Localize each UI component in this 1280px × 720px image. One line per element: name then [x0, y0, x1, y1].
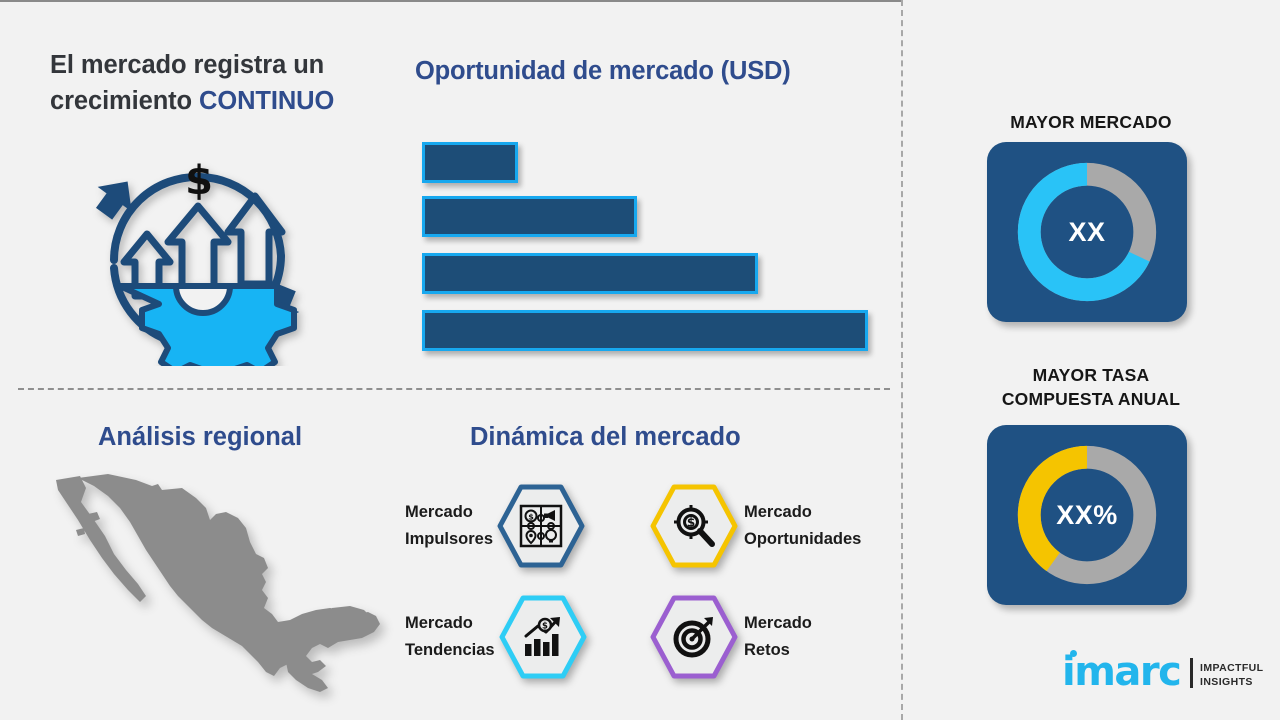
- top-rule: [0, 0, 901, 2]
- hexagon-trends[interactable]: $: [499, 595, 587, 679]
- dynamics-label-line2: Oportunidades: [744, 530, 861, 548]
- highest-cagr-value: XX%: [987, 500, 1187, 531]
- logo-tagline-line1: IMPACTFUL: [1200, 662, 1263, 674]
- opportunity-title: Oportunidad de mercado (USD): [415, 57, 895, 86]
- growth-gear-arrows-icon: $: [72, 138, 322, 366]
- growth-title: El mercado registra un crecimiento CONTI…: [50, 47, 410, 119]
- logo-wordmark: imarc: [1062, 652, 1180, 692]
- bar-row: [422, 310, 868, 351]
- highest-cagr-heading-line1: MAYOR TASA: [1033, 365, 1150, 385]
- dynamics-label-drivers: Mercado Impulsores: [405, 499, 493, 552]
- growth-title-line2-plain: crecimiento: [50, 87, 199, 115]
- hexagon-drivers[interactable]: $: [497, 484, 585, 568]
- mexico-map: [50, 462, 400, 702]
- bar-row: [422, 253, 758, 294]
- target-arrow-icon: [671, 614, 717, 660]
- dynamics-item-drivers[interactable]: Mercado Impulsores $: [405, 484, 585, 568]
- bar-row: [422, 142, 518, 183]
- largest-market-heading: MAYOR MERCADO: [941, 111, 1241, 135]
- dynamics-label-line2: Tendencias: [405, 641, 495, 659]
- logo-tagline-line2: INSIGHTS: [1200, 676, 1253, 688]
- puzzle-pieces-icon: $: [518, 503, 564, 549]
- bar-2: [422, 196, 637, 237]
- bar-1: [422, 142, 518, 183]
- highest-cagr-heading: MAYOR TASA COMPUESTA ANUAL: [941, 364, 1241, 411]
- market-dynamics-group: Mercado Impulsores $: [395, 478, 895, 693]
- dynamics-item-trends[interactable]: Mercado Tendencias $: [405, 595, 587, 679]
- dynamics-item-challenges[interactable]: Mercado Retos: [650, 595, 812, 679]
- dynamics-label-opportunities: Mercado Oportunidades: [744, 499, 861, 552]
- bar-3: [422, 253, 758, 294]
- highest-cagr-card: XX%: [987, 425, 1187, 605]
- largest-market-card: XX: [987, 142, 1187, 322]
- dynamics-title: Dinámica del mercado: [470, 423, 870, 452]
- regional-title: Análisis regional: [98, 423, 428, 452]
- dynamics-label-line1: Mercado: [744, 503, 812, 521]
- svg-text:$: $: [542, 622, 548, 632]
- hexagon-challenges[interactable]: [650, 595, 738, 679]
- dynamics-label-line2: Impulsores: [405, 530, 493, 548]
- hexagon-opportunities[interactable]: $: [650, 484, 738, 568]
- highest-cagr-heading-line2: COMPUESTA ANUAL: [1002, 389, 1180, 409]
- dynamics-label-trends: Mercado Tendencias: [405, 610, 495, 663]
- bar-chart-growth-icon: $: [520, 614, 566, 660]
- growth-dollar-glyph: $: [185, 158, 213, 204]
- horizontal-dashed-divider: [18, 388, 890, 390]
- dynamics-label-line2: Retos: [744, 641, 790, 659]
- svg-text:$: $: [528, 513, 534, 522]
- dynamics-label-line1: Mercado: [405, 614, 473, 632]
- vertical-dashed-divider: [901, 0, 903, 720]
- dynamics-label-line1: Mercado: [405, 503, 473, 521]
- bar-row: [422, 196, 637, 237]
- growth-title-line1: El mercado registra un: [50, 51, 324, 79]
- logo-separator: [1190, 658, 1193, 688]
- dynamics-item-opportunities[interactable]: $ Mercado Oportunidades: [650, 484, 861, 568]
- bar-4: [422, 310, 868, 351]
- largest-market-value: XX: [987, 217, 1187, 248]
- dynamics-label-challenges: Mercado Retos: [744, 610, 812, 663]
- magnifier-dollar-target-icon: $: [671, 503, 717, 549]
- svg-text:$: $: [687, 516, 695, 530]
- opportunity-bar-chart: [415, 142, 885, 357]
- infographic-canvas: El mercado registra un crecimiento CONTI…: [0, 0, 1280, 720]
- imarc-logo: imarc IMPACTFUL INSIGHTS: [1062, 650, 1262, 702]
- growth-title-accent: CONTINUO: [199, 87, 334, 115]
- dynamics-label-line1: Mercado: [744, 614, 812, 632]
- logo-tagline: IMPACTFUL INSIGHTS: [1200, 661, 1263, 689]
